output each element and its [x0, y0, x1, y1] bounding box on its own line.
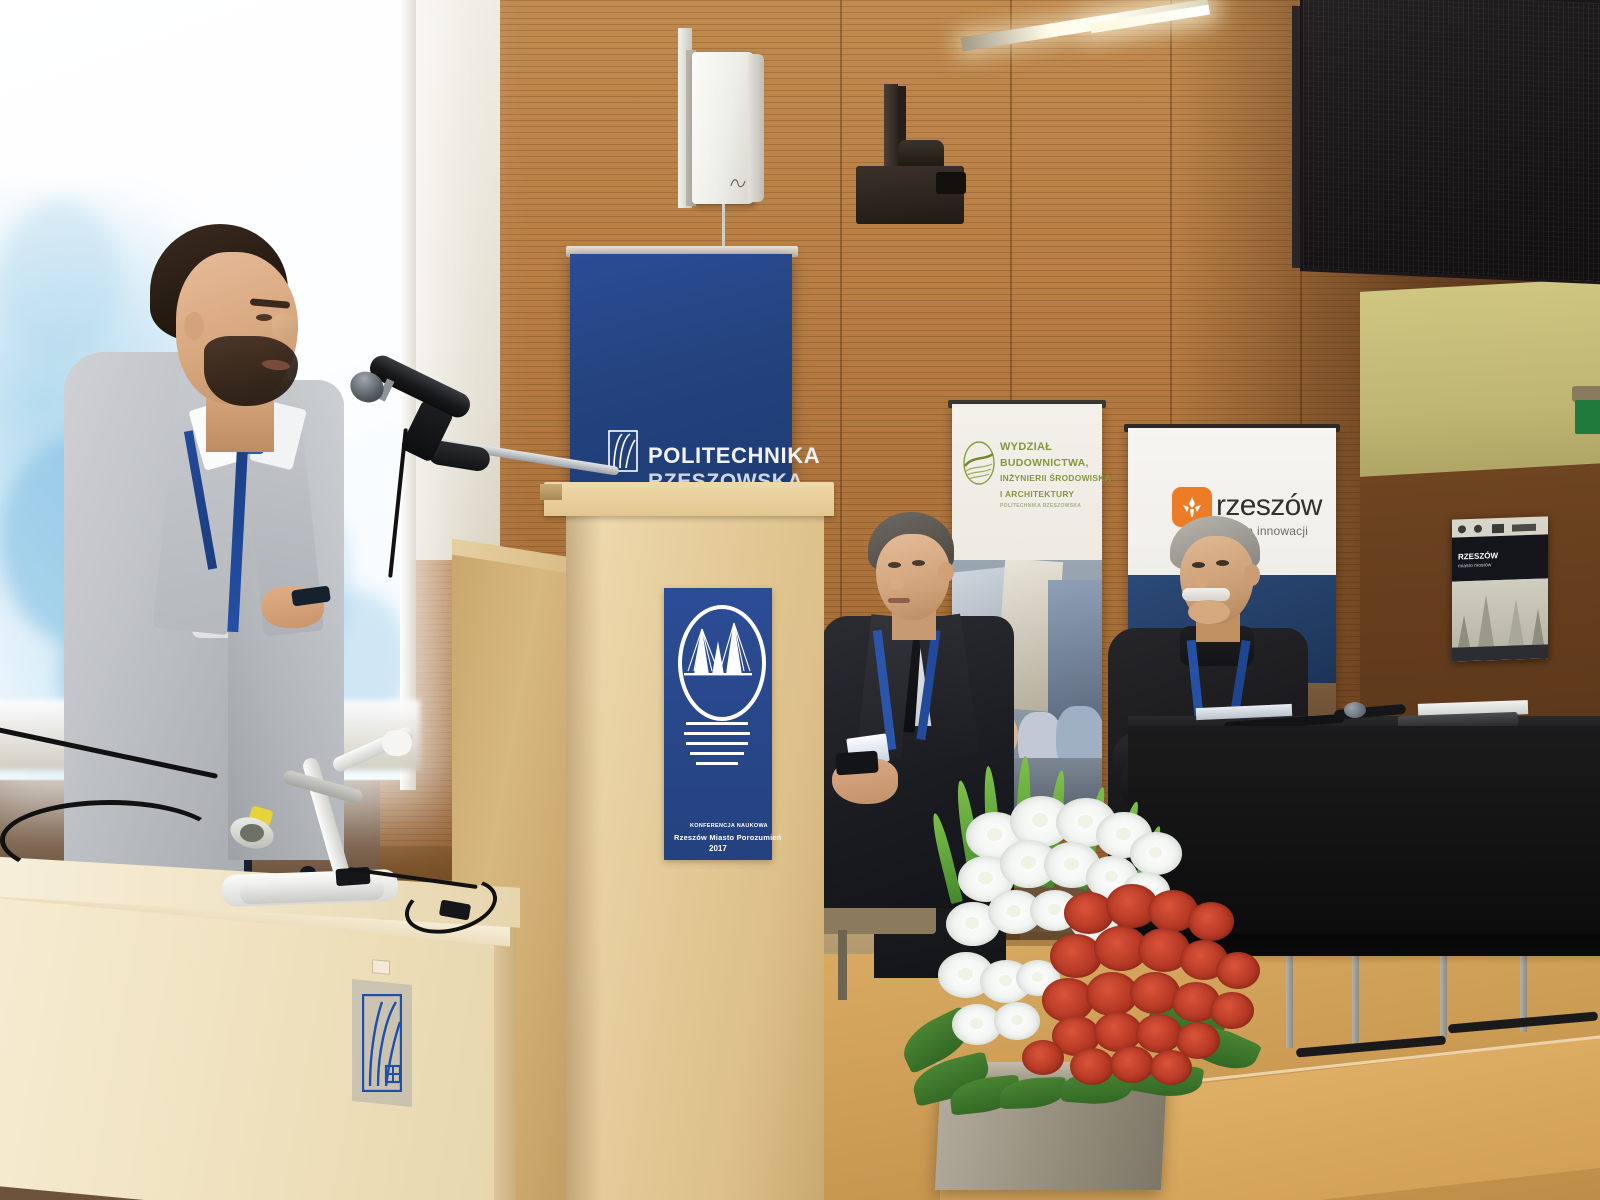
desk-cable-loop: [0, 800, 220, 880]
bridge-oval-icon: [678, 605, 766, 721]
bridge-graphic-icon: [682, 609, 754, 709]
panelist2-eye: [1216, 560, 1229, 566]
speaker-nose: [272, 314, 298, 340]
speaker-eye: [256, 314, 272, 321]
faculty-line-2: BUDOWNICTWA,: [1000, 457, 1089, 469]
red-flower: [1188, 902, 1234, 941]
red-flower: [1070, 1048, 1114, 1085]
lectern-shadow: [566, 512, 602, 1200]
white-flower-center: [1105, 871, 1119, 882]
red-flower: [1022, 1040, 1064, 1075]
rzeszow-glyph-icon: [1180, 495, 1204, 519]
projector-mount-head: [898, 140, 944, 168]
panelist2-chin: [1188, 600, 1230, 624]
white-flower-center: [987, 828, 1002, 841]
white-flower-center: [1149, 847, 1163, 858]
water-line: [686, 722, 748, 725]
speaker-ear: [184, 312, 204, 340]
faculty-oval-logo-icon: [962, 440, 996, 486]
wall-poster: RZESZÓW miasto mostów: [1452, 516, 1548, 661]
white-flower-center: [1021, 856, 1036, 869]
speaker-wire: [722, 204, 725, 250]
microphone-stand-base: [540, 484, 562, 500]
acoustic-dark-panel: [1300, 0, 1600, 285]
projector-mount-pole: [884, 84, 898, 170]
poster-bridge-graphic-icon: [1452, 578, 1548, 647]
doc-camera-elbow: [382, 730, 412, 756]
speaker-side: [748, 54, 764, 202]
red-flower: [1110, 1046, 1154, 1083]
water-line: [690, 752, 744, 755]
white-flower-center: [1078, 815, 1094, 828]
front-desk-right-edge: [494, 906, 516, 1200]
emblem-line-2: Rzeszów Miasto Porozumień: [674, 833, 782, 842]
white-flower-center: [1116, 828, 1131, 840]
speaker-brand-mark-icon: [730, 176, 746, 190]
white-flower-center: [958, 968, 973, 980]
panelist1-eye: [888, 562, 901, 568]
faculty-line-4: I ARCHITEKTURY: [1000, 489, 1074, 499]
emblem-line-1: KONFERENCJA NAUKOWA: [690, 823, 768, 829]
red-flower: [1150, 1050, 1192, 1085]
white-flower-center: [978, 872, 993, 884]
table-microphone-head-icon: [1344, 702, 1366, 718]
faculty-line-3: INŻYNIERII ŚRODOWISKA: [1000, 473, 1111, 483]
panelist1-ear: [938, 562, 954, 582]
panelist2-eye: [1192, 562, 1205, 568]
red-flower: [1050, 934, 1102, 978]
panelist2-moustache: [1182, 588, 1230, 601]
poster-subtitle: miasto mostów: [1458, 562, 1491, 569]
doc-camera-lens-icon: [240, 824, 264, 842]
white-flower-center: [999, 975, 1013, 986]
prz-desk-logo-icon: [362, 994, 402, 1092]
panelist1-eye: [912, 560, 925, 566]
poster-title: RZESZÓW: [1458, 551, 1498, 561]
desk-socket[interactable]: [372, 959, 390, 975]
lectern-top-surface: [544, 482, 834, 516]
water-line: [684, 732, 750, 735]
panelist1-nose: [890, 576, 904, 590]
emblem-year: 2017: [709, 844, 727, 853]
banner-line-politechnika: POLITECHNIKA: [648, 443, 820, 469]
white-flower-center: [1011, 1015, 1023, 1025]
white-flower-center: [970, 1018, 983, 1029]
water-line: [686, 742, 748, 745]
poster-image-area: [1452, 578, 1548, 647]
white-flower-center: [1064, 858, 1079, 870]
red-flower: [1210, 992, 1254, 1029]
white-flower-center: [1048, 904, 1061, 915]
projector-lens-icon: [936, 172, 966, 194]
red-flower: [1136, 1014, 1182, 1053]
panelist2-nose: [1194, 574, 1208, 589]
red-flower: [1216, 952, 1260, 989]
screen-content-blob: [0, 200, 120, 360]
conference-photo-scene: RZESZÓW miasto mostów POLITECHNIKA RZESZ…: [0, 0, 1600, 1200]
faculty-line-1: WYDZIAŁ: [1000, 441, 1052, 453]
water-line: [696, 762, 738, 765]
exit-sign: [1575, 400, 1600, 434]
smartphone: [835, 751, 878, 776]
panelist2-ear: [1244, 564, 1260, 586]
chair-leg: [838, 930, 847, 1000]
panelist1-mouth: [888, 598, 910, 603]
faculty-subline: POLITECHNIKA RZESZOWSKA: [1000, 503, 1081, 509]
